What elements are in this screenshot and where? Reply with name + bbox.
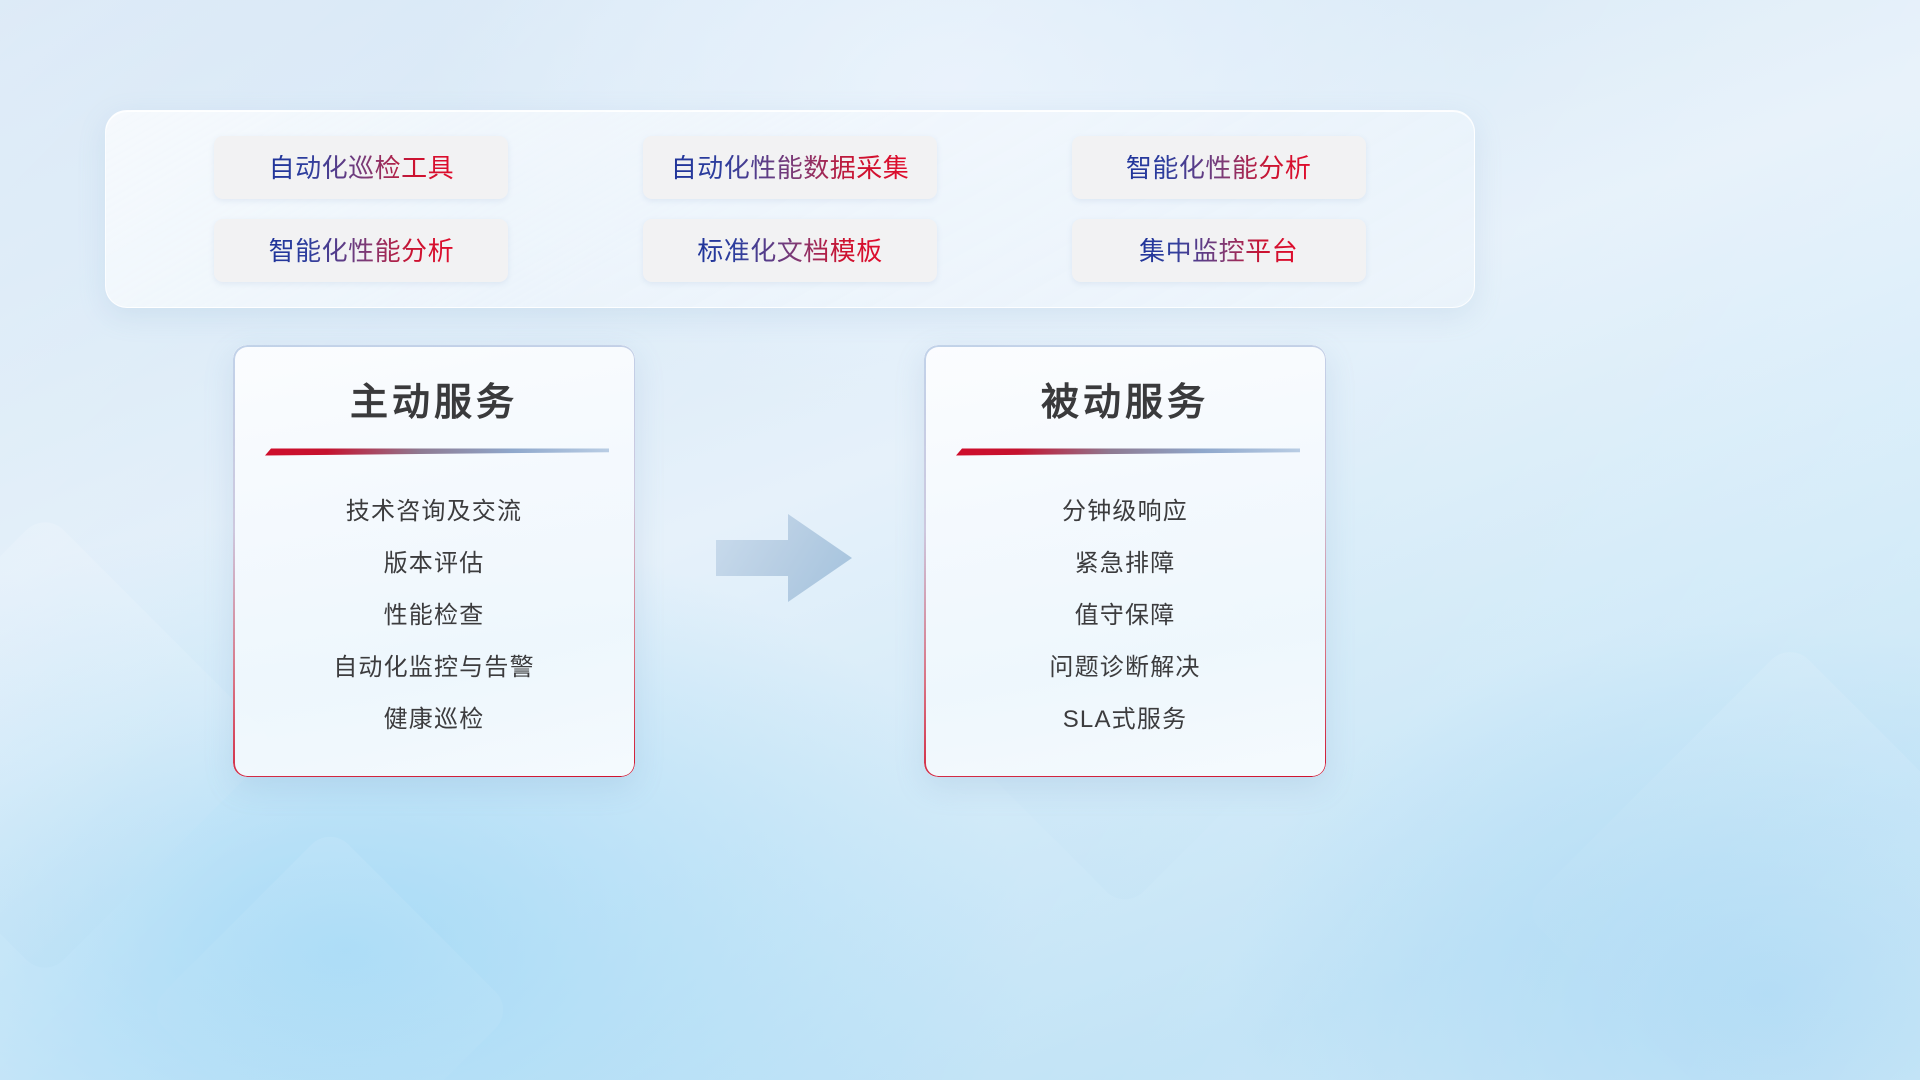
decorative-diamond: [146, 826, 514, 1080]
card-title: 被动服务: [924, 371, 1326, 426]
capability-tag-4[interactable]: 标准化文档模板: [643, 219, 937, 282]
capability-tag-label: 智能化性能分析: [1126, 155, 1312, 181]
capability-tag-label: 智能化性能分析: [269, 238, 455, 264]
capability-tag-panel: 自动化巡检工具 自动化性能数据采集 智能化性能分析 智能化性能分析 标准化文档模…: [105, 110, 1475, 308]
capability-tag-2[interactable]: 智能化性能分析: [1072, 136, 1366, 199]
capability-tag-label: 标准化文档模板: [697, 238, 883, 264]
list-item: 紧急排障: [924, 538, 1326, 590]
capability-tag-0[interactable]: 自动化巡检工具: [214, 136, 508, 199]
list-item: 分钟级响应: [924, 486, 1326, 538]
list-item: 自动化监控与告警: [233, 642, 635, 694]
list-item: 技术咨询及交流: [233, 486, 635, 538]
list-item: 问题诊断解决: [924, 642, 1326, 694]
arrow-right-icon: [714, 508, 854, 608]
list-item: 值守保障: [924, 590, 1326, 642]
capability-tag-5[interactable]: 集中监控平台: [1072, 219, 1366, 282]
card-title: 主动服务: [233, 371, 635, 426]
service-card-active: 主动服务 技术咨询及交流 版本评估 性能检查 自动化监控与告警 健康巡检: [233, 345, 635, 777]
capability-tag-label: 集中监控平台: [1139, 238, 1298, 264]
card-divider: [950, 446, 1300, 458]
service-card-passive: 被动服务 分钟级响应 紧急排障 值守保障 问题诊断解决 SLA式服务: [924, 345, 1326, 777]
capability-tag-label: 自动化巡检工具: [269, 155, 455, 181]
capability-tag-3[interactable]: 智能化性能分析: [214, 219, 508, 282]
list-item: SLA式服务: [924, 694, 1326, 746]
list-item: 版本评估: [233, 538, 635, 590]
service-item-list: 技术咨询及交流 版本评估 性能检查 自动化监控与告警 健康巡检: [233, 486, 635, 746]
list-item: 健康巡检: [233, 694, 635, 746]
decorative-diamond: [1521, 641, 1920, 1080]
card-divider: [259, 446, 609, 458]
service-item-list: 分钟级响应 紧急排障 值守保障 问题诊断解决 SLA式服务: [924, 486, 1326, 746]
capability-tag-1[interactable]: 自动化性能数据采集: [643, 136, 937, 199]
capability-tag-label: 自动化性能数据采集: [671, 155, 910, 181]
list-item: 性能检查: [233, 590, 635, 642]
